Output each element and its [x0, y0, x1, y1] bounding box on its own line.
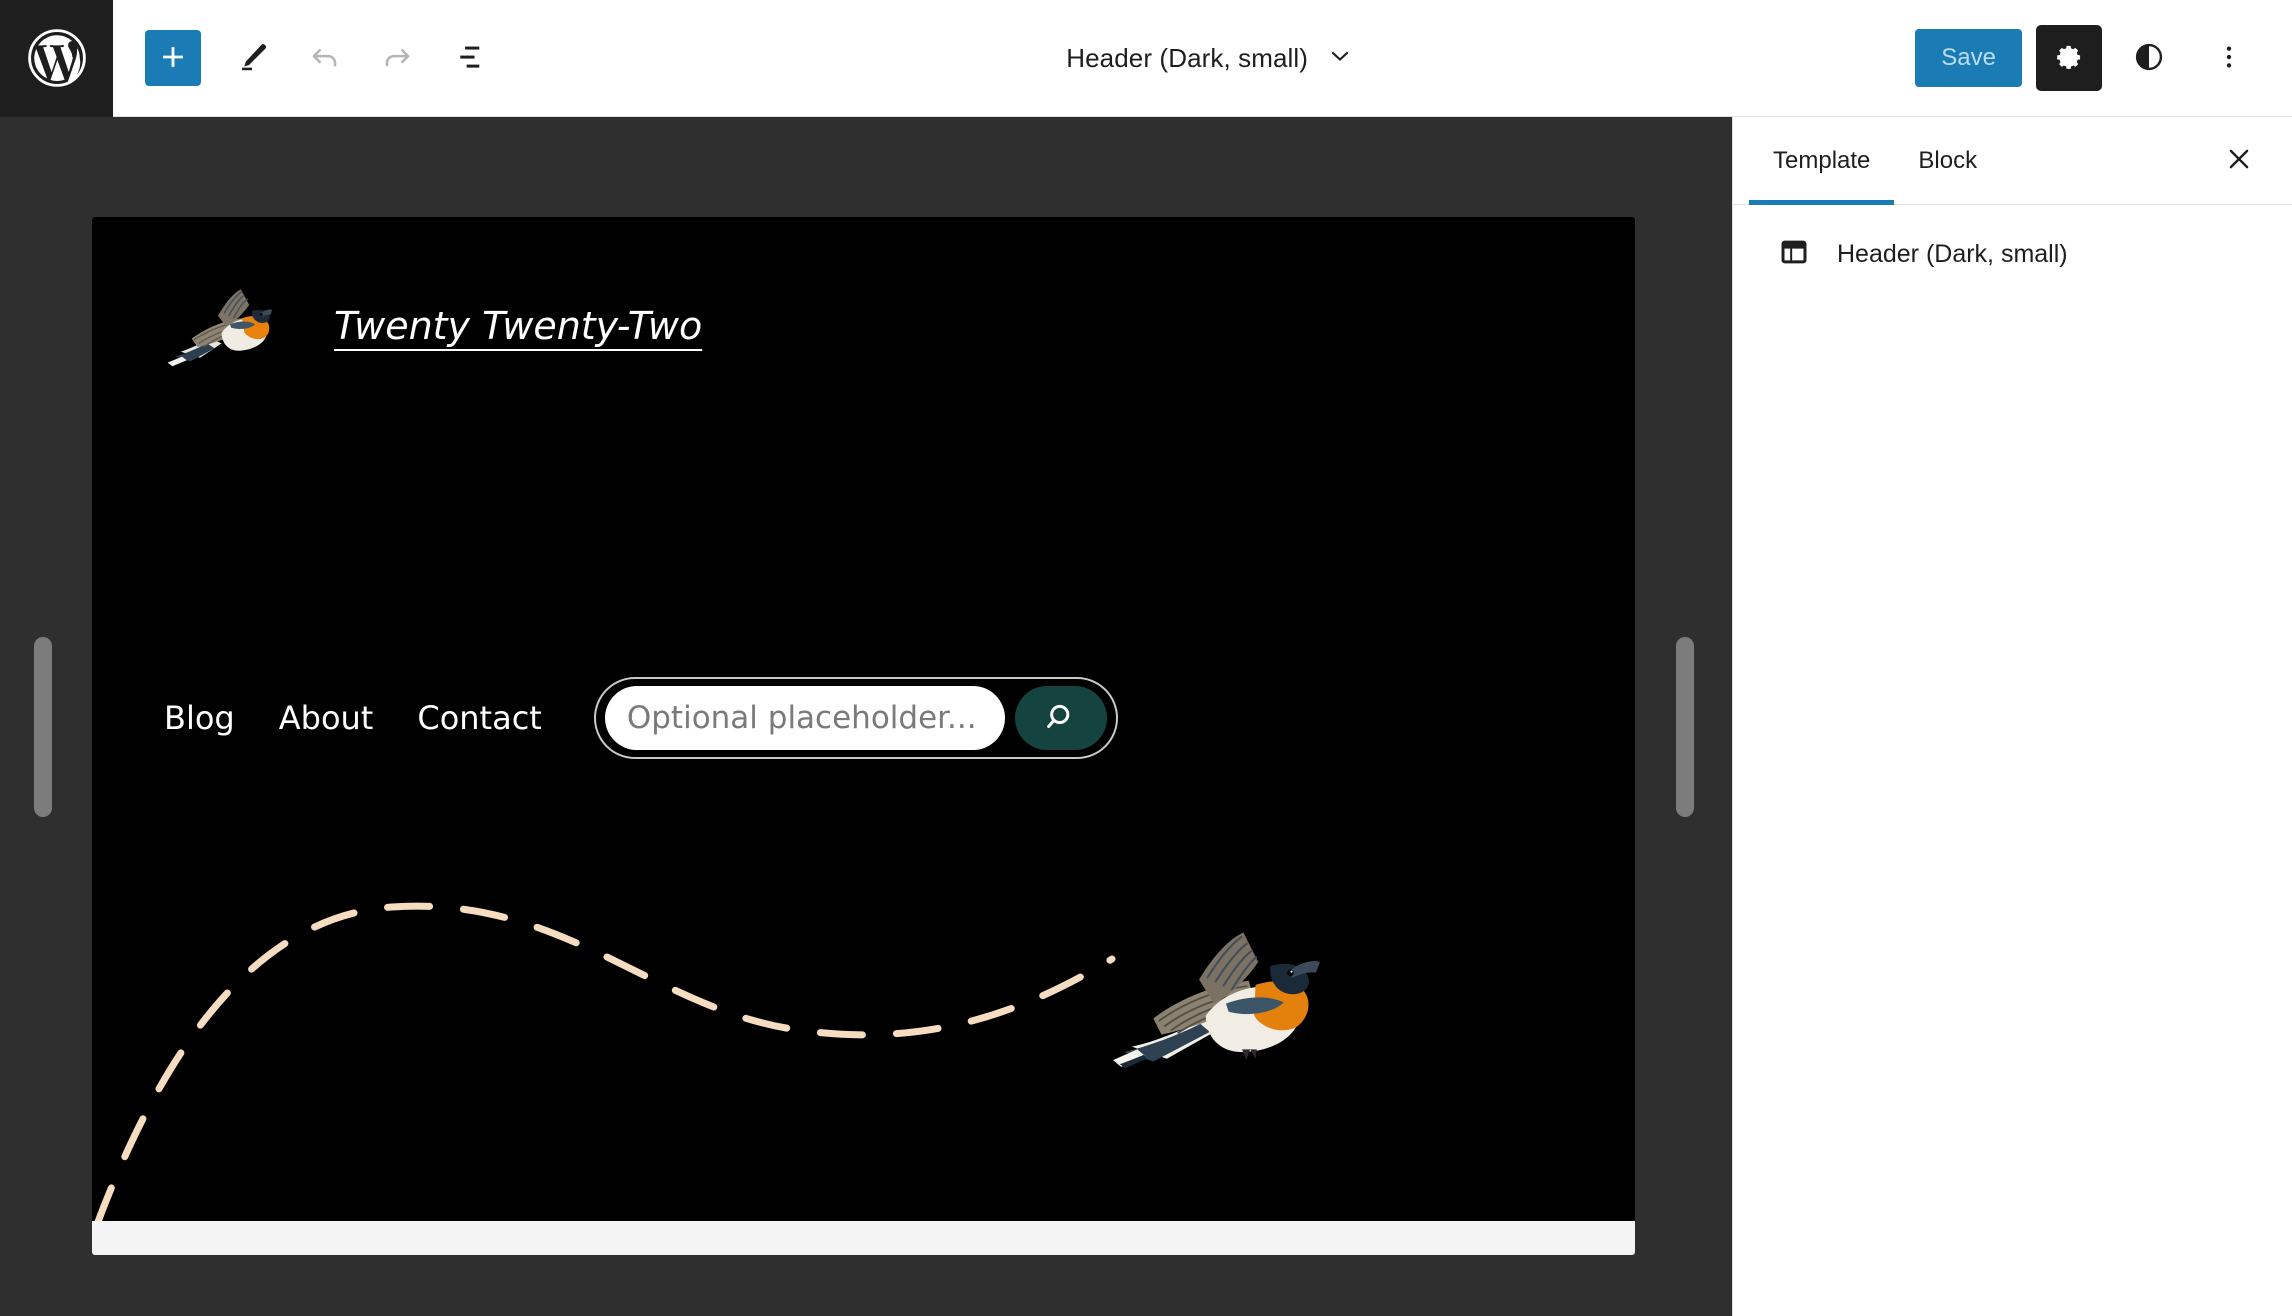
contrast-half-circle-icon [2132, 40, 2166, 77]
chevron-down-icon [1326, 42, 1354, 75]
more-options-button[interactable] [2196, 25, 2262, 91]
settings-button[interactable] [2036, 25, 2102, 91]
document-title-dropdown[interactable]: Header (Dark, small) [505, 42, 1915, 75]
sidebar-item-label: Header (Dark, small) [1837, 240, 2068, 269]
nav-item-blog[interactable]: Blog [164, 699, 235, 737]
three-dots-vertical-icon [2214, 42, 2244, 75]
wordpress-site-editor: Header (Dark, small) Save [0, 0, 2292, 1316]
bird-illustration-large [1105, 930, 1320, 1080]
site-branding: Twenty Twenty-Two [164, 280, 702, 372]
canvas-scrollbar-right[interactable] [1676, 637, 1694, 817]
editor-toolbar-right-group: Save [1915, 25, 2292, 91]
sidebar-tabs: Template Block [1733, 117, 2292, 205]
template-layout-icon [1777, 235, 1811, 274]
search-block-selected[interactable] [594, 677, 1118, 759]
edit-tool-button[interactable] [217, 22, 289, 94]
editor-canvas: Twenty Twenty-Two Blog About Contact [0, 117, 1732, 1316]
plus-icon [156, 40, 190, 77]
undo-arrow-icon [307, 39, 343, 78]
search-input[interactable] [605, 686, 1005, 750]
tab-template[interactable]: Template [1749, 117, 1894, 204]
template-footer-strip [92, 1221, 1635, 1255]
close-x-icon [2224, 144, 2254, 177]
undo-button[interactable] [289, 22, 361, 94]
site-nav-links: Blog About Contact [164, 699, 542, 737]
nav-item-contact[interactable]: Contact [417, 699, 542, 737]
add-block-button[interactable] [145, 30, 201, 86]
redo-arrow-icon [379, 39, 415, 78]
site-preview-frame: Twenty Twenty-Two Blog About Contact [92, 217, 1635, 1255]
bird-illustration-small [164, 280, 272, 372]
sidebar-item-template[interactable]: Header (Dark, small) [1733, 205, 2292, 304]
editor-toolbar-left-group [113, 22, 505, 94]
save-button[interactable]: Save [1915, 29, 2022, 87]
nav-item-about[interactable]: About [279, 699, 374, 737]
list-view-icon [450, 38, 488, 79]
site-navigation-row: Blog About Contact [164, 677, 1118, 759]
search-submit-button[interactable] [1015, 686, 1107, 750]
wordpress-logo-icon [26, 27, 88, 89]
page-title: Header (Dark, small) [1066, 43, 1308, 74]
settings-sidebar: Template Block Header (Dark, small) [1732, 117, 2292, 1316]
tab-block[interactable]: Block [1894, 117, 2001, 204]
close-sidebar-button[interactable] [2204, 126, 2274, 196]
search-magnifier-icon [1042, 698, 1080, 739]
site-title[interactable]: Twenty Twenty-Two [334, 304, 702, 348]
list-view-button[interactable] [433, 22, 505, 94]
wordpress-logo-button[interactable] [0, 0, 113, 117]
redo-button[interactable] [361, 22, 433, 94]
canvas-scrollbar-left[interactable] [34, 637, 52, 817]
gear-icon [2051, 39, 2087, 78]
editor-header-toolbar: Header (Dark, small) Save [0, 0, 2292, 117]
pencil-icon [235, 39, 271, 78]
styles-button[interactable] [2116, 25, 2182, 91]
